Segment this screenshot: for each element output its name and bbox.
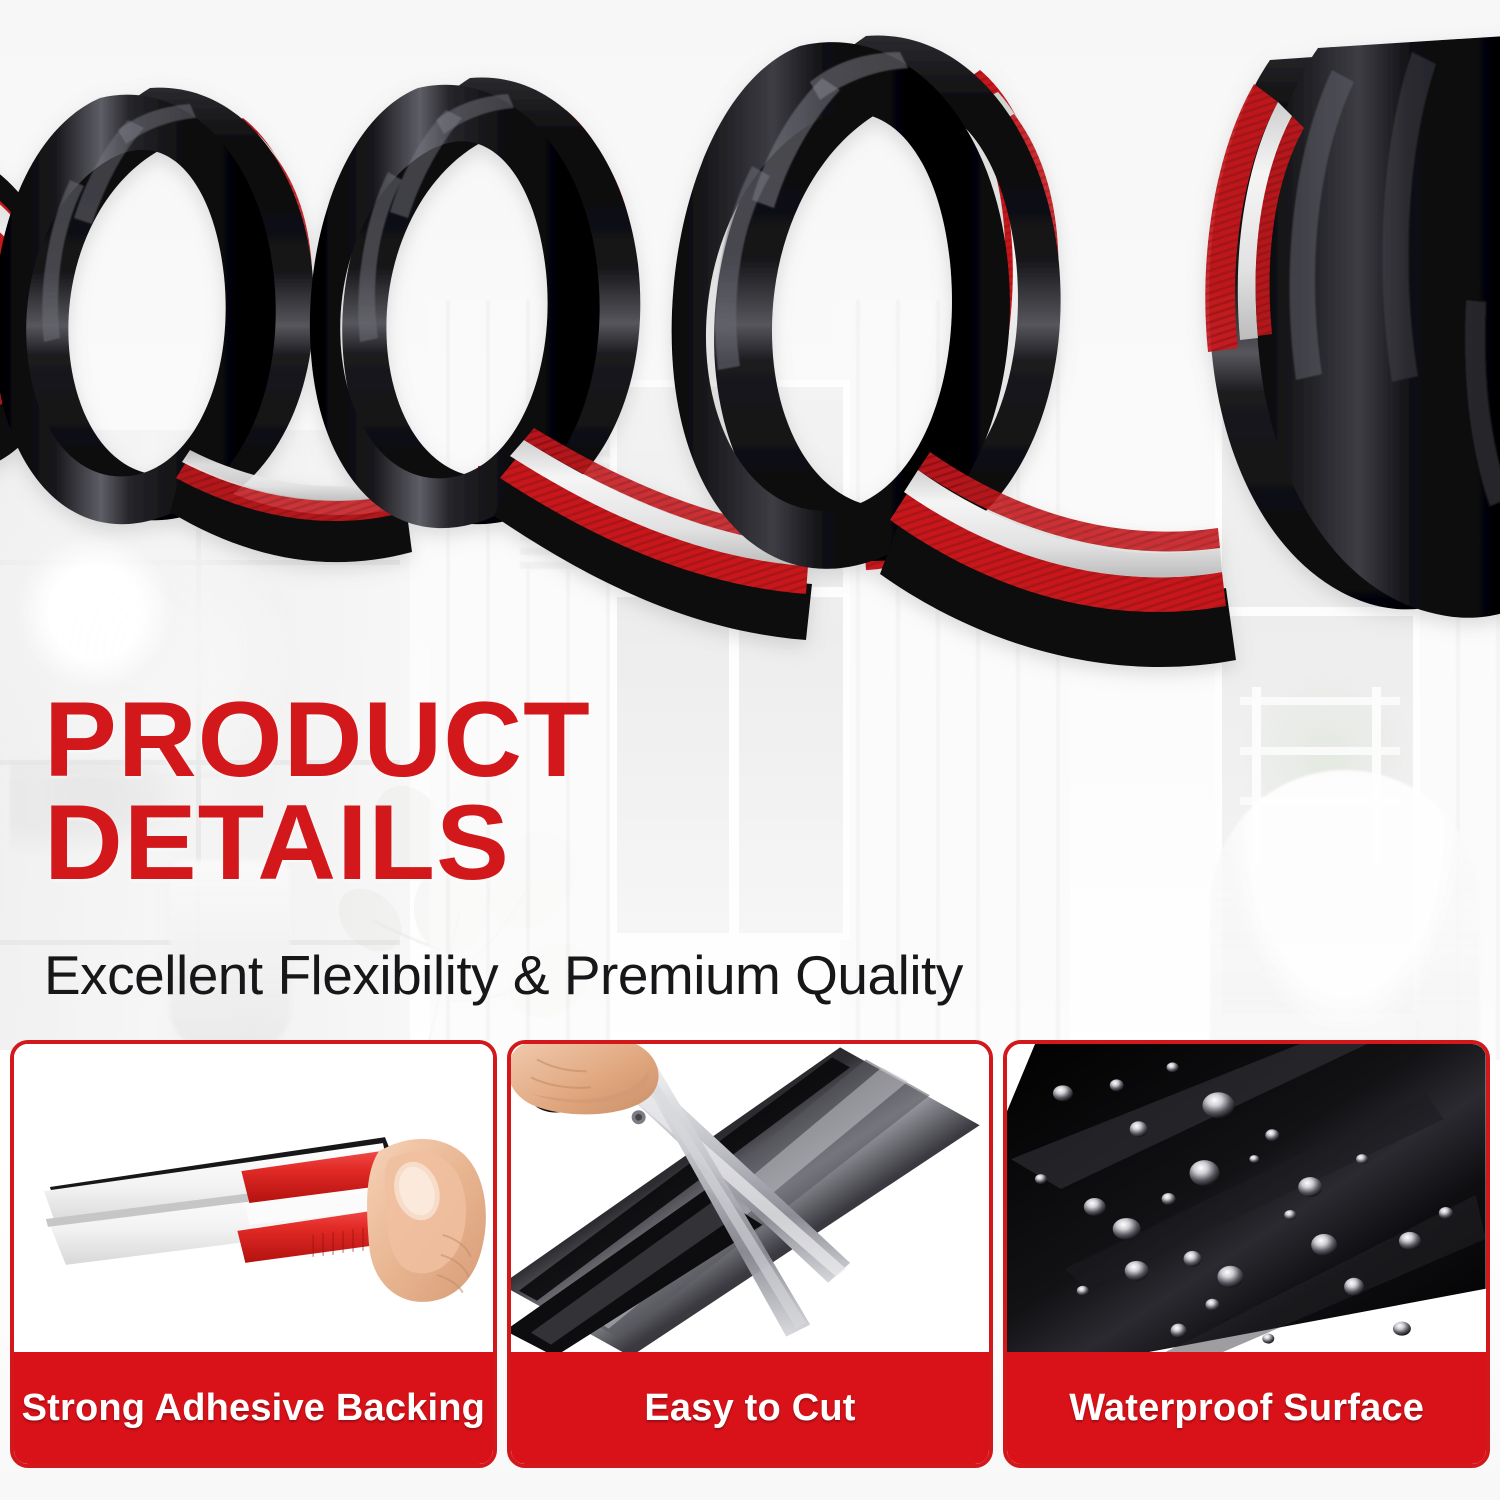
- hand: [367, 1139, 486, 1302]
- feature-card-strong-adhesive-backing[interactable]: Strong Adhesive Backing: [10, 1040, 497, 1468]
- coil-connector-3: [880, 452, 1236, 667]
- coil-loop-1: [0, 88, 314, 525]
- coil-loop-4: [1205, 30, 1500, 618]
- feature-caption-waterproof-surface: Waterproof Surface: [1007, 1352, 1486, 1464]
- feature-card-row: Strong Adhesive Backing: [10, 1040, 1490, 1468]
- feature-card-easy-to-cut[interactable]: Easy to Cut: [507, 1040, 994, 1468]
- feature-card-waterproof-surface[interactable]: Waterproof Surface: [1003, 1040, 1490, 1468]
- feature-caption-strong-adhesive-backing: Strong Adhesive Backing: [14, 1352, 493, 1464]
- photo-water-droplets-on-tape: [1007, 1044, 1486, 1352]
- product-detail-image: PRODUCT DETAILS Excellent Flexibility & …: [0, 0, 1500, 1500]
- page-subtitle: Excellent Flexibility & Premium Quality: [44, 944, 963, 1006]
- photo-scissors-cutting-tape: [511, 1044, 990, 1352]
- coil-loop-3: [672, 36, 1061, 570]
- page-title: PRODUCT DETAILS: [44, 688, 591, 894]
- hand: [511, 1044, 659, 1114]
- feature-caption-easy-to-cut: Easy to Cut: [511, 1352, 990, 1464]
- background-chair: [1210, 770, 1480, 1070]
- coiled-tape-hero-illustration: [0, 0, 1500, 790]
- photo-hand-peeling-adhesive: [14, 1044, 493, 1352]
